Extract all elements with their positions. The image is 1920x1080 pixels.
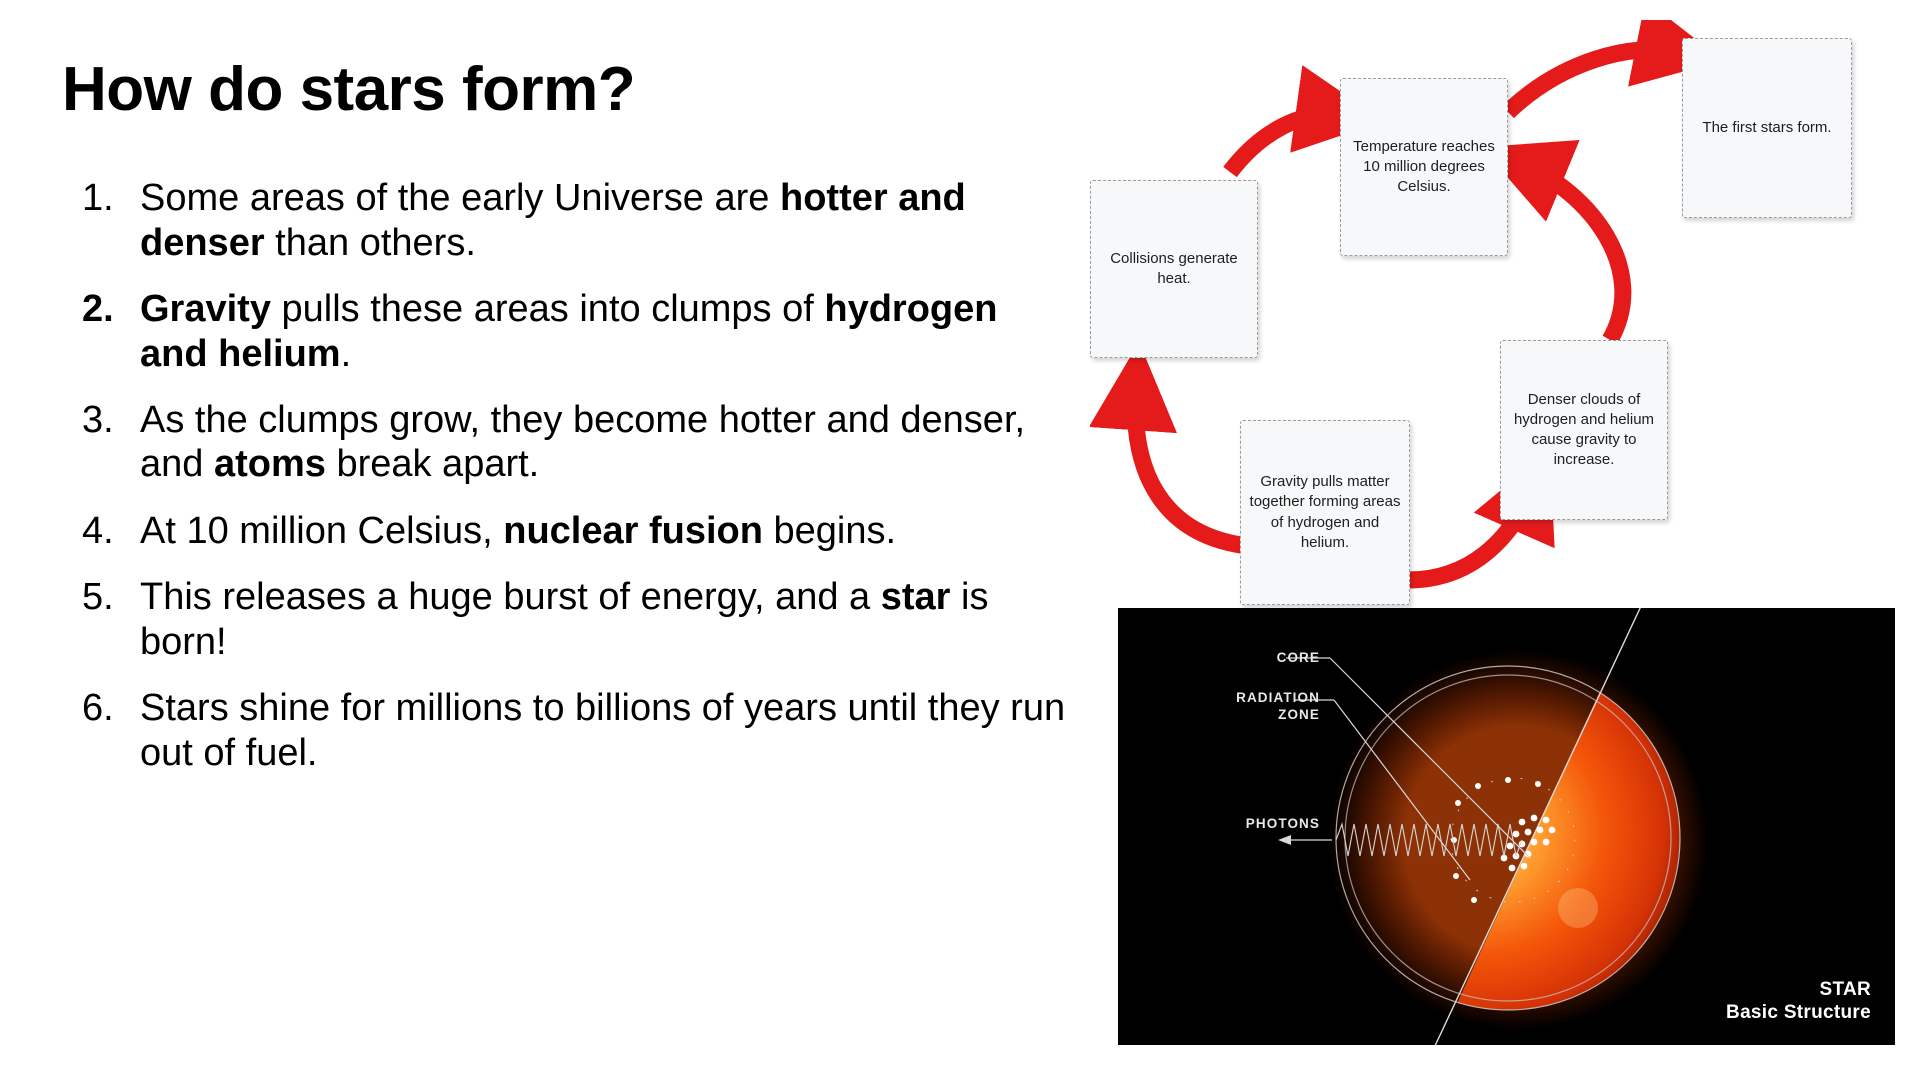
diagram-node-denser-clouds[interactable]: Denser clouds of hydrogen and helium cau… xyxy=(1500,340,1668,520)
step-text-emphasis: star xyxy=(881,576,951,618)
step-text-run: . xyxy=(341,333,352,375)
photons-label: PHOTONS xyxy=(1168,816,1320,833)
step-text: Stars shine for millions to billions of … xyxy=(140,686,1070,775)
step-text: At 10 million Celsius, nuclear fusion be… xyxy=(140,509,1070,553)
step-text: This releases a huge burst of energy, an… xyxy=(140,575,1070,664)
step-number: 2. xyxy=(62,287,140,331)
star-caption-line-1: STAR xyxy=(1726,978,1871,1002)
diagram-node-denser-clouds-label: Denser clouds of hydrogen and helium cau… xyxy=(1507,390,1661,471)
step-text: Gravity pulls these areas into clumps of… xyxy=(140,287,1070,376)
star-structure-image: CORE RADIATION ZONE PHOTONS STAR Basic S… xyxy=(1118,608,1895,1045)
star-formation-step-list: 1.Some areas of the early Universe are h… xyxy=(62,176,1082,775)
step-text-run: This releases a huge burst of energy, an… xyxy=(140,576,881,618)
diagram-node-collisions[interactable]: Collisions generate heat. xyxy=(1090,180,1258,358)
radiation-zone-label: RADIATION ZONE xyxy=(1178,690,1320,724)
star-image-caption: STAR Basic Structure xyxy=(1726,978,1871,1026)
step-item: 2.Gravity pulls these areas into clumps … xyxy=(62,287,1082,376)
content-column: How do stars form? 1.Some areas of the e… xyxy=(62,56,1082,797)
step-text-emphasis: nuclear fusion xyxy=(503,510,763,552)
star-formation-cycle-diagram: Collisions generate heat. Temperature re… xyxy=(1090,20,1890,600)
step-text-run: break apart. xyxy=(326,443,539,485)
step-text: Some areas of the early Universe are hot… xyxy=(140,176,1070,265)
step-number: 5. xyxy=(62,575,140,619)
diagram-node-collisions-label: Collisions generate heat. xyxy=(1097,249,1251,290)
slide-root: How do stars form? 1.Some areas of the e… xyxy=(0,0,1920,1080)
core-label: CORE xyxy=(1210,650,1320,667)
step-item: 3.As the clumps grow, they become hotter… xyxy=(62,398,1082,487)
step-text-run: pulls these areas into clumps of xyxy=(271,288,824,330)
step-text-run: begins. xyxy=(763,510,896,552)
diagram-node-first-stars-label: The first stars form. xyxy=(1702,118,1831,138)
step-text-run: Stars shine for millions to billions of … xyxy=(140,687,1065,773)
diagram-node-temperature-label: Temperature reaches 10 million degrees C… xyxy=(1347,137,1501,198)
step-number: 3. xyxy=(62,398,140,442)
page-title: How do stars form? xyxy=(62,56,1082,124)
step-item: 1.Some areas of the early Universe are h… xyxy=(62,176,1082,265)
step-text-run: Some areas of the early Universe are xyxy=(140,177,780,219)
arrow-temperature-to-first-stars xyxy=(1508,50,1680,113)
step-number: 4. xyxy=(62,509,140,553)
diagram-node-first-stars[interactable]: The first stars form. xyxy=(1682,38,1852,218)
step-text-emphasis: atoms xyxy=(214,443,326,485)
star-caption-line-2: Basic Structure xyxy=(1726,1001,1871,1025)
step-number: 1. xyxy=(62,176,140,220)
diagram-node-gravity-label: Gravity pulls matter together forming ar… xyxy=(1247,472,1403,553)
step-item: 6.Stars shine for millions to billions o… xyxy=(62,686,1082,775)
step-item: 4.At 10 million Celsius, nuclear fusion … xyxy=(62,509,1082,553)
diagram-node-temperature[interactable]: Temperature reaches 10 million degrees C… xyxy=(1340,78,1508,256)
step-text-run: At 10 million Celsius, xyxy=(140,510,503,552)
step-text: As the clumps grow, they become hotter a… xyxy=(140,398,1070,487)
step-item: 5.This releases a huge burst of energy, … xyxy=(62,575,1082,664)
step-text-emphasis: Gravity xyxy=(140,288,271,330)
arrow-denser-to-temperature xyxy=(1522,164,1623,340)
step-number: 6. xyxy=(62,686,140,730)
diagram-node-gravity[interactable]: Gravity pulls matter together forming ar… xyxy=(1240,420,1410,605)
arrow-collisions-to-temperature xyxy=(1230,114,1340,172)
step-text-run: than others. xyxy=(265,222,476,264)
